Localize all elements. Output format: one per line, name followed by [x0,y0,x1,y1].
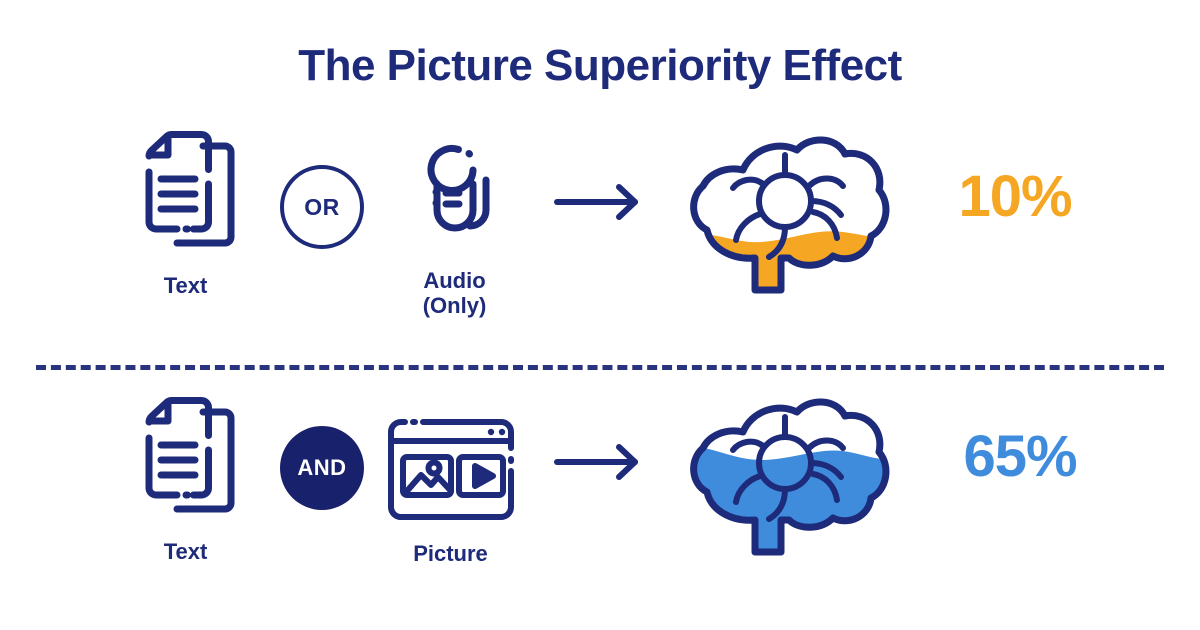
input-label: Text [164,273,208,298]
flow-arrow-audio-row [548,182,653,222]
input-picture: Picture [378,415,523,566]
document-text-icon [128,132,243,257]
infographic-canvas: The Picture Superiority Effect [0,0,1200,630]
percent-value: 10% [958,168,1071,226]
input-label: Audio (Only) [423,268,487,319]
microphone-audio-icon [414,140,496,252]
brain-icon [681,128,896,298]
connector-badge-label: AND [280,426,364,510]
row-audio: Text OR [0,120,1200,350]
connector-and: AND [272,426,372,510]
brain-icon [681,390,896,560]
arrow-right-icon [553,442,648,482]
input-text-picture-row: Text [118,398,253,564]
page-title: The Picture Superiority Effect [0,42,1200,90]
connector-or: OR [272,165,372,249]
row-picture: Text AND [0,390,1200,620]
input-text-audio-row: Text [118,132,253,298]
arrow-right-icon [553,182,648,222]
flow-arrow-picture-row [548,442,653,482]
brain-blue [678,390,898,560]
result-percent-picture: 65% [930,428,1110,486]
result-percent-audio: 10% [930,168,1100,226]
input-label-line2: (Only) [423,293,487,318]
input-label: Text [164,539,208,564]
connector-badge-label: OR [280,165,364,249]
dashed-divider [36,365,1164,370]
input-audio: Audio (Only) [382,140,527,319]
percent-value: 65% [963,428,1076,486]
brain-amber [678,128,898,298]
document-text-icon [128,398,243,523]
picture-media-icon [381,415,521,525]
input-label-line1: Audio [423,268,485,293]
input-label: Picture [413,541,488,566]
